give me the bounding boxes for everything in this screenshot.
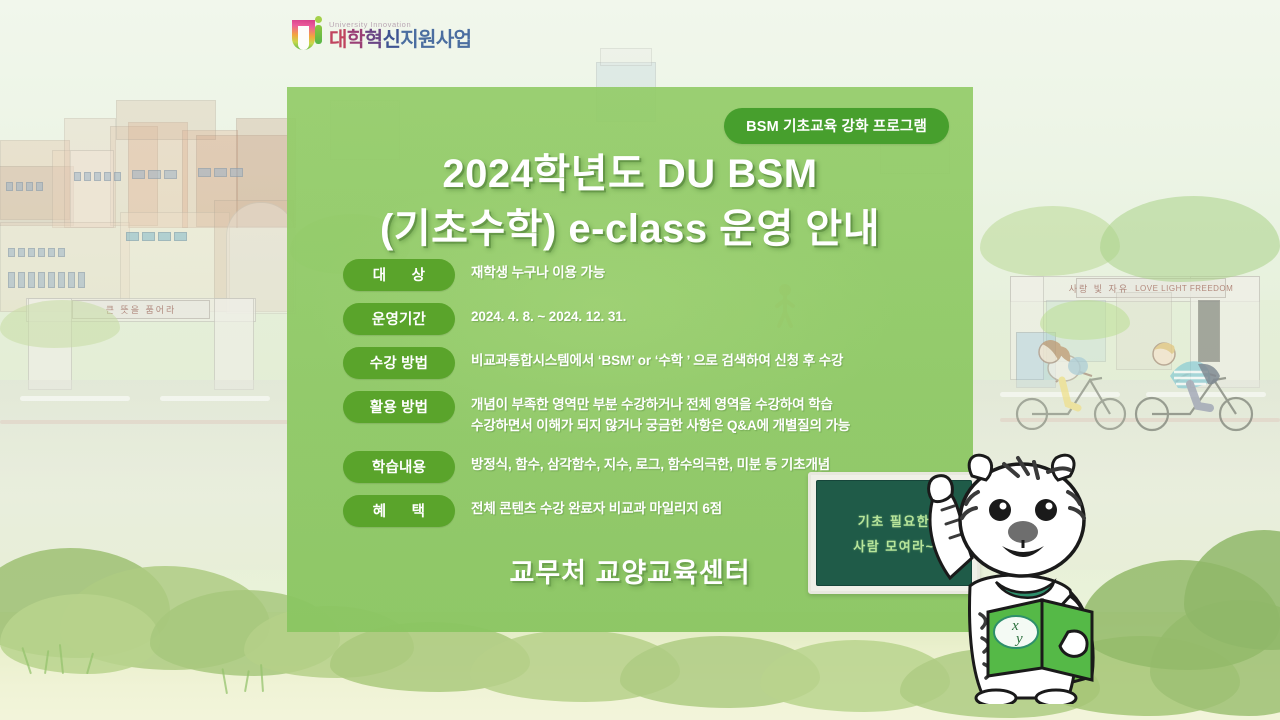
program-badge: BSM 기초교육 강화 프로그램 [724,108,949,144]
poster-canvas: 큰 뜻을 품어라 사랑 빛 자유 LOVE LIGHT FREEDOM [0,0,1280,720]
building-block [600,48,652,66]
grass-blade [260,664,264,692]
building-block [0,222,130,312]
info-row: 대 상 재학생 누구나 이용 가능 [343,259,955,291]
cyclist-male [1124,320,1274,432]
logo-u-icon [292,14,322,50]
logo-english-text: University Innovation [329,21,471,29]
right-gate-sign-english: LOVE LIGHT FREEDOM [1135,284,1233,293]
tree-foliage [0,300,120,348]
info-label-how-to-use: 활용 방법 [343,391,455,423]
info-value-how-to-use: 개념이 부족한 영역만 부분 수강하거나 전체 영역을 수강하여 학습 수강하면… [455,391,955,437]
poster-board [1016,332,1056,388]
grass-blade [21,647,32,674]
info-value-line: 개념이 부족한 영역만 부분 수강하거나 전체 영역을 수강하여 학습 [471,395,955,416]
logo-u-shape [292,20,315,50]
road-marking [1000,392,1120,397]
round-tower-building [226,202,296,314]
window-row [132,170,177,179]
right-campus-gate-wall [1010,276,1044,380]
tree-foliage [1100,196,1280,282]
right-campus-gate-wall [1190,276,1260,388]
building-block [214,200,294,312]
logo-dot [315,16,322,23]
logo-korean-text: 대학혁신지원사업 [329,30,471,50]
left-campus-gate [26,298,256,322]
bush [470,630,680,702]
window-row [8,248,65,257]
bush [0,594,160,674]
bush [330,622,530,692]
building-block [110,126,158,226]
bush [0,548,170,658]
left-gate-sign-text: 큰 뜻을 품어라 [106,303,177,316]
left-campus-gate-pillar [28,298,72,390]
road-marking [20,396,130,401]
building-block [120,212,230,312]
title-line-2: (기초수학) e-class 운영 안내 [287,202,973,257]
building-block [128,122,188,228]
info-value-target: 재학생 누구나 이용 가능 [455,259,955,284]
window-row [198,168,243,177]
info-value-period: 2024. 4. 8. ~ 2024. 12. 31. [455,303,955,328]
road-marking [160,396,270,401]
left-campus-gate-pillar [214,298,254,390]
info-row: 운영기간 2024. 4. 8. ~ 2024. 12. 31. [343,303,955,335]
grass-blade [222,668,228,694]
page-title: 2024학년도 DU BSM (기초수학) e-class 운영 안내 [287,147,973,257]
bush [1184,530,1280,650]
building-block [1046,300,1106,362]
building-block [196,135,288,227]
building-block [116,100,216,140]
grass-blade [86,653,94,675]
info-label-how-to-enroll: 수강 방법 [343,347,455,379]
building-block [1116,292,1172,370]
info-row: 수강 방법 비교과통합시스템에서 ‘BSM’ or ‘수학 ’ 으로 검색하여 … [343,347,955,379]
building-block [0,166,74,226]
info-value-line: 재학생 누구나 이용 가능 [471,263,955,284]
university-innovation-logo: University Innovation 대학혁신지원사업 [292,14,471,50]
info-value-line-2: 수강하면서 이해가 되지 않거나 궁금한 사항은 Q&A에 개별질의 가능 [471,416,955,437]
bush [620,636,820,708]
info-value-how-to-enroll: 비교과통합시스템에서 ‘BSM’ or ‘수학 ’ 으로 검색하여 신청 후 수… [455,347,955,372]
notice-board [1198,300,1220,362]
building-block [52,150,114,228]
road-marking [1000,418,1280,422]
building-block [182,130,238,228]
info-label-period: 운영기간 [343,303,455,335]
title-line-1: 2024학년도 DU BSM [287,147,973,202]
tree-foliage [1040,300,1130,340]
info-label-target: 대 상 [343,259,455,291]
info-value-line: 2024. 4. 8. ~ 2024. 12. 31. [471,307,955,328]
left-gate-sign: 큰 뜻을 품어라 [72,300,210,319]
white-tiger-mascot: x y [892,436,1132,704]
window-row [126,232,187,241]
info-label-benefit: 혜 택 [343,495,455,527]
svg-text:y: y [1014,631,1023,647]
info-row: 활용 방법 개념이 부족한 영역만 부분 수강하거나 전체 영역을 수강하여 학… [343,391,955,437]
tree-foliage [980,206,1120,276]
building-block [0,140,70,220]
grass-blade [59,644,64,674]
road-marking [0,420,290,424]
bush [1150,600,1280,716]
right-gate-sign: 사랑 빛 자유 LOVE LIGHT FREEDOM [1076,278,1226,298]
info-label-curriculum: 학습내용 [343,451,455,483]
window-row [6,182,43,191]
building-block [70,150,114,228]
bush [60,566,270,670]
cyclist-female [1006,318,1146,430]
window-row [8,272,85,288]
info-value-line: 비교과통합시스템에서 ‘BSM’ or ‘수학 ’ 으로 검색하여 신청 후 수… [471,351,955,372]
building-block [64,118,116,228]
logo-text-block: University Innovation 대학혁신지원사업 [329,21,471,51]
right-gate-sign-korean: 사랑 빛 자유 [1069,282,1129,295]
grass-blade [44,650,49,674]
window-row [74,172,121,181]
grass-blade [244,670,250,692]
right-campus-gate [1010,276,1260,302]
logo-stem [315,25,322,44]
road-marking [1146,392,1266,397]
